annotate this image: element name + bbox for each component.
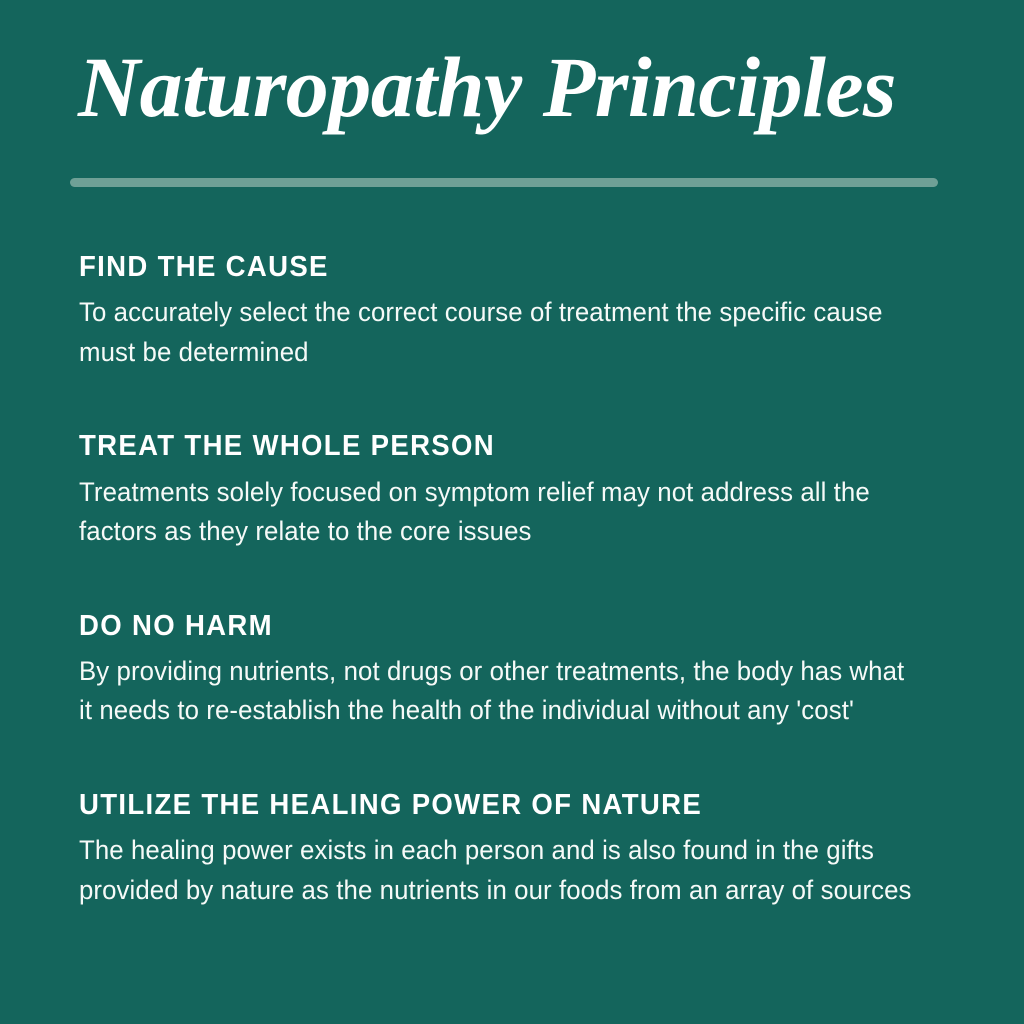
principle-heading: DO NO HARM <box>79 611 915 641</box>
title-block: Naturopathy Principles <box>78 44 958 130</box>
principle-item-do-no-harm: DO NO HARM By providing nutrients, not d… <box>79 611 959 731</box>
principle-description: By providing nutrients, not drugs or oth… <box>79 652 919 731</box>
title-divider-rule <box>70 178 938 187</box>
page-title: Naturopathy Principles <box>78 44 958 130</box>
principles-list: FIND THE CAUSE To accurately select the … <box>79 252 959 910</box>
principle-item-utilize-the-healing-power-of-nature: UTILIZE THE HEALING POWER OF NATURE The … <box>79 790 959 910</box>
principle-heading: UTILIZE THE HEALING POWER OF NATURE <box>79 790 915 820</box>
principle-description: The healing power exists in each person … <box>79 831 919 910</box>
principle-item-treat-the-whole-person: TREAT THE WHOLE PERSON Treatments solely… <box>79 431 959 551</box>
principle-description: Treatments solely focused on symptom rel… <box>79 473 919 552</box>
principle-heading: TREAT THE WHOLE PERSON <box>79 431 915 461</box>
principle-description: To accurately select the correct course … <box>79 293 919 372</box>
naturopathy-principles-poster: Naturopathy Principles FIND THE CAUSE To… <box>0 0 1024 1024</box>
principle-heading: FIND THE CAUSE <box>79 252 915 282</box>
principle-item-find-the-cause: FIND THE CAUSE To accurately select the … <box>79 252 959 372</box>
